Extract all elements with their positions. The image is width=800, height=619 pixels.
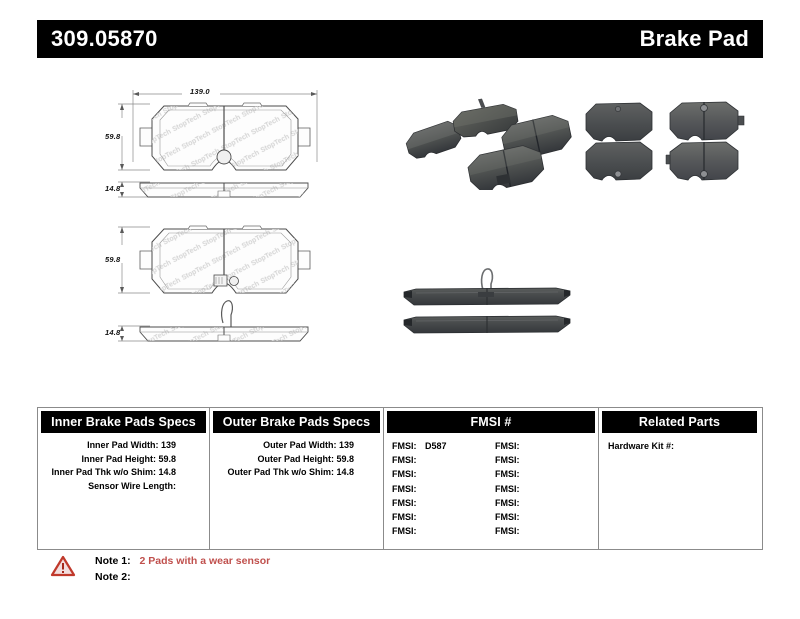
inner-pad-thickness-dimension: 14.8 bbox=[105, 184, 120, 193]
column-related-parts: Related Parts Hardware Kit #: bbox=[598, 408, 760, 549]
column-outer-specs: Outer Brake Pads Specs Outer Pad Width: … bbox=[209, 408, 383, 549]
fmsi-row: FMSI: bbox=[495, 510, 598, 524]
note-1-label: Note 1: bbox=[95, 555, 131, 567]
fmsi-row: FMSI: bbox=[392, 467, 495, 481]
fmsi-row: FMSI: bbox=[392, 482, 495, 496]
fmsi-right-subcolumn: FMSI: FMSI: FMSI: FMSI: bbox=[495, 439, 598, 538]
fmsi-label: FMSI: bbox=[495, 441, 520, 451]
fmsi-row: FMSI: bbox=[392, 524, 495, 538]
related-hardware-kit: Hardware Kit #: bbox=[599, 439, 760, 453]
outer-pad-thickness-dimension: 14.8 bbox=[105, 328, 120, 337]
fmsi-label: FMSI: bbox=[392, 484, 417, 494]
fmsi-label: FMSI: bbox=[392, 469, 417, 479]
fmsi-label: FMSI: bbox=[392, 455, 417, 465]
spec-inner-pad-width: Inner Pad Width: 139 bbox=[38, 439, 209, 453]
column-inner-specs: Inner Brake Pads Specs Inner Pad Width: … bbox=[38, 408, 209, 549]
fmsi-label: FMSI: bbox=[392, 498, 417, 508]
brake-pads-flat-photo bbox=[578, 100, 746, 188]
inner-pad-width-dimension: 139.0 bbox=[190, 87, 210, 96]
fmsi-label: FMSI: bbox=[495, 498, 520, 508]
page-title: Brake Pad bbox=[640, 28, 749, 50]
spec-outer-pad-width: Outer Pad Width: 139 bbox=[210, 439, 383, 453]
note-2-label: Note 2: bbox=[95, 571, 131, 583]
fmsi-row: FMSI: bbox=[392, 453, 495, 467]
spec-outer-pad-thickness: Outer Pad Thk w/o Shim: 14.8 bbox=[210, 466, 383, 480]
notes-section: Note 1: 2 Pads with a wear sensor Note 2… bbox=[50, 552, 470, 600]
column-body-inner-specs: Inner Pad Width: 139 Inner Pad Height: 5… bbox=[38, 436, 209, 549]
fmsi-label: FMSI: bbox=[495, 469, 520, 479]
fmsi-row: FMSI: bbox=[495, 496, 598, 510]
part-number: 309.05870 bbox=[51, 28, 158, 50]
brake-pads-profile-photo bbox=[398, 262, 576, 342]
fmsi-row: FMSI: bbox=[495, 453, 598, 467]
inner-brake-pad-drawing: StopTech StopTech bbox=[110, 84, 340, 204]
fmsi-label: FMSI: bbox=[392, 512, 417, 522]
column-fmsi: FMSI # FMSI: D587 FMSI: FMSI: bbox=[383, 408, 598, 549]
spec-inner-pad-height: Inner Pad Height: 59.8 bbox=[38, 453, 209, 467]
outer-pad-height-dimension: 59.8 bbox=[105, 255, 120, 264]
fmsi-value: D587 bbox=[425, 441, 447, 451]
fmsi-row: FMSI: D587 bbox=[392, 439, 495, 453]
specs-table: Inner Brake Pads Specs Inner Pad Width: … bbox=[37, 407, 763, 550]
inner-pad-height-dimension: 59.8 bbox=[105, 132, 120, 141]
spec-outer-pad-height: Outer Pad Height: 59.8 bbox=[210, 453, 383, 467]
fmsi-label: FMSI: bbox=[495, 512, 520, 522]
note-1-row: Note 1: 2 Pads with a wear sensor bbox=[95, 555, 270, 567]
column-body-fmsi: FMSI: D587 FMSI: FMSI: FMSI: bbox=[384, 436, 598, 549]
brake-pads-angled-photo bbox=[396, 98, 576, 190]
fmsi-label: FMSI: bbox=[495, 455, 520, 465]
fmsi-label: FMSI: bbox=[392, 441, 417, 451]
header-bar: 309.05870 Brake Pad bbox=[37, 20, 763, 58]
note-1-value: 2 Pads with a wear sensor bbox=[140, 555, 271, 567]
spec-inner-pad-thickness: Inner Pad Thk w/o Shim: 14.8 bbox=[38, 466, 209, 480]
fmsi-label: FMSI: bbox=[495, 484, 520, 494]
column-body-outer-specs: Outer Pad Width: 139 Outer Pad Height: 5… bbox=[210, 436, 383, 549]
fmsi-row: FMSI: bbox=[495, 524, 598, 538]
fmsi-left-subcolumn: FMSI: D587 FMSI: FMSI: FMSI: bbox=[392, 439, 495, 538]
fmsi-row: FMSI: bbox=[392, 510, 495, 524]
fmsi-row: FMSI: bbox=[495, 439, 598, 453]
fmsi-row: FMSI: bbox=[392, 496, 495, 510]
column-header-fmsi: FMSI # bbox=[387, 411, 595, 433]
fmsi-row: FMSI: bbox=[495, 482, 598, 496]
column-header-related-parts: Related Parts bbox=[602, 411, 757, 433]
fmsi-label: FMSI: bbox=[392, 526, 417, 536]
fmsi-row: FMSI: bbox=[495, 467, 598, 481]
fmsi-label: FMSI: bbox=[495, 526, 520, 536]
column-header-outer-specs: Outer Brake Pads Specs bbox=[213, 411, 380, 433]
note-2-row: Note 2: bbox=[95, 571, 137, 583]
column-header-inner-specs: Inner Brake Pads Specs bbox=[41, 411, 206, 433]
outer-brake-pad-drawing: StopTech StopTech bbox=[110, 215, 340, 345]
spec-sensor-wire-length: Sensor Wire Length: bbox=[38, 480, 209, 494]
warning-triangle-icon bbox=[50, 555, 76, 577]
column-body-related-parts: Hardware Kit #: bbox=[599, 436, 760, 549]
